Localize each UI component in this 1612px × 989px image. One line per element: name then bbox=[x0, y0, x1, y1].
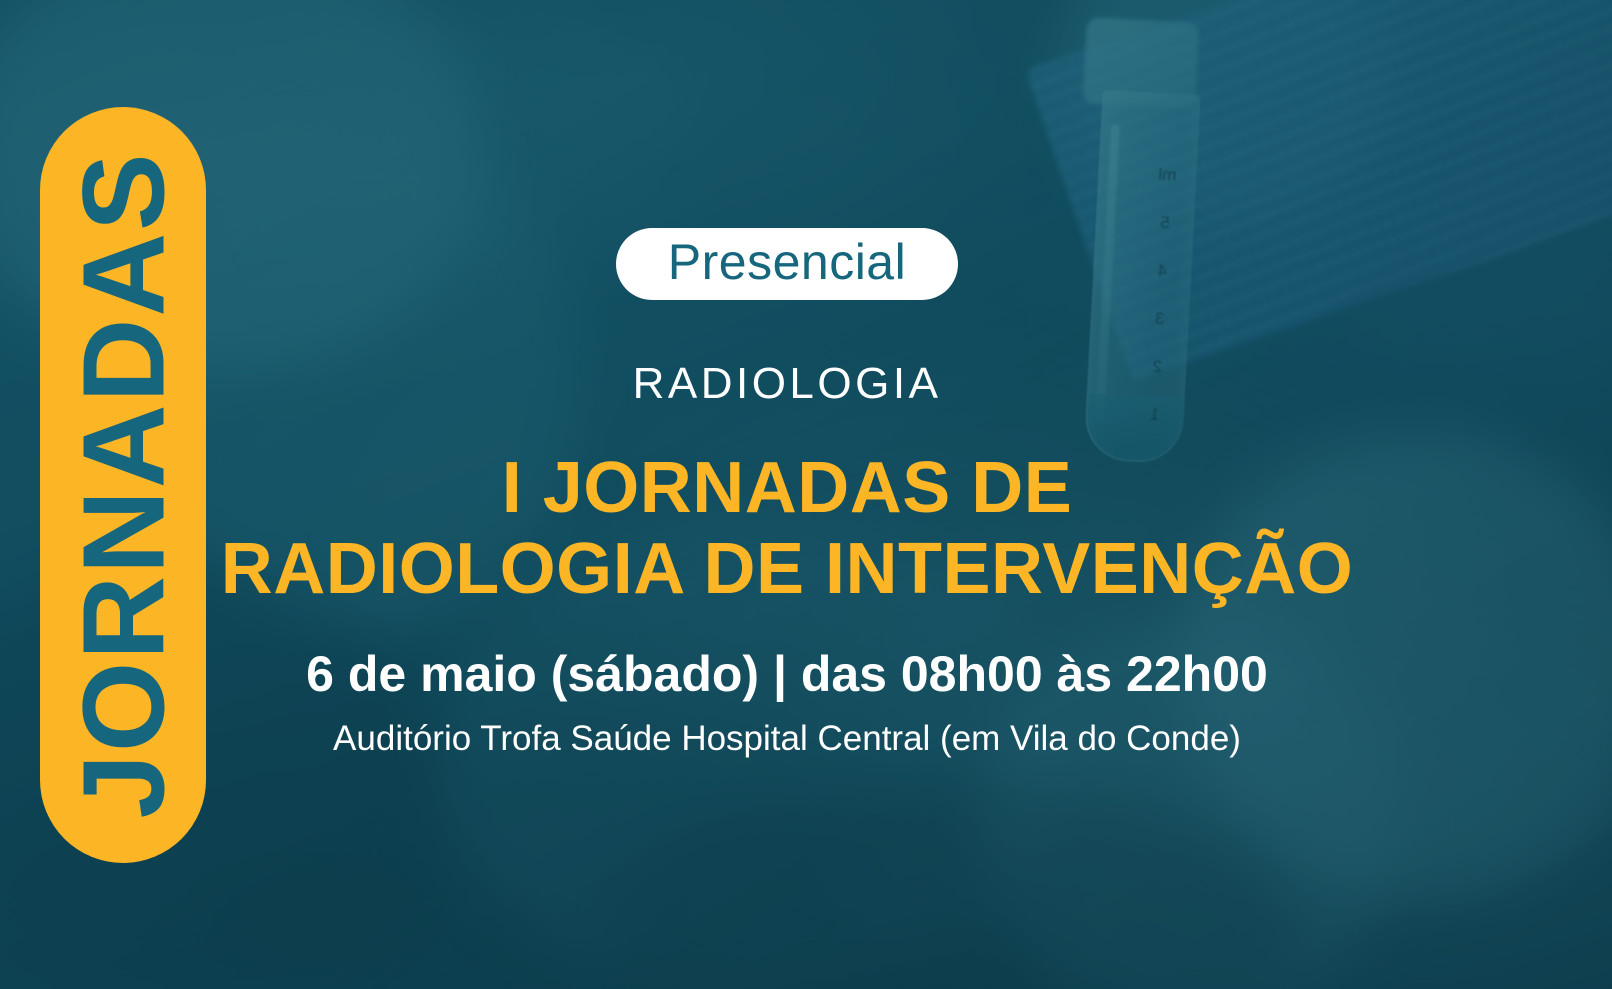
event-banner: ml 5 4 3 2 1 JORNADAS Presencial RADIOLO… bbox=[0, 0, 1612, 989]
event-datetime: 6 de maio (sábado) | das 08h00 às 22h00 bbox=[306, 649, 1268, 699]
side-tab-label: JORNADAS bbox=[65, 152, 181, 819]
event-title-line-2: RADIOLOGIA DE INTERVENÇÃO bbox=[221, 529, 1354, 610]
event-venue: Auditório Trofa Saúde Hospital Central (… bbox=[333, 721, 1241, 756]
format-badge: Presencial bbox=[616, 228, 958, 300]
content-column: Presencial RADIOLOGIA I JORNADAS DE RADI… bbox=[206, 0, 1368, 989]
side-tab-jornadas: JORNADAS bbox=[40, 107, 206, 863]
event-title-line-1: I JORNADAS DE bbox=[221, 448, 1354, 529]
kicker-specialty: RADIOLOGIA bbox=[633, 362, 942, 406]
event-title: I JORNADAS DE RADIOLOGIA DE INTERVENÇÃO bbox=[221, 448, 1354, 609]
